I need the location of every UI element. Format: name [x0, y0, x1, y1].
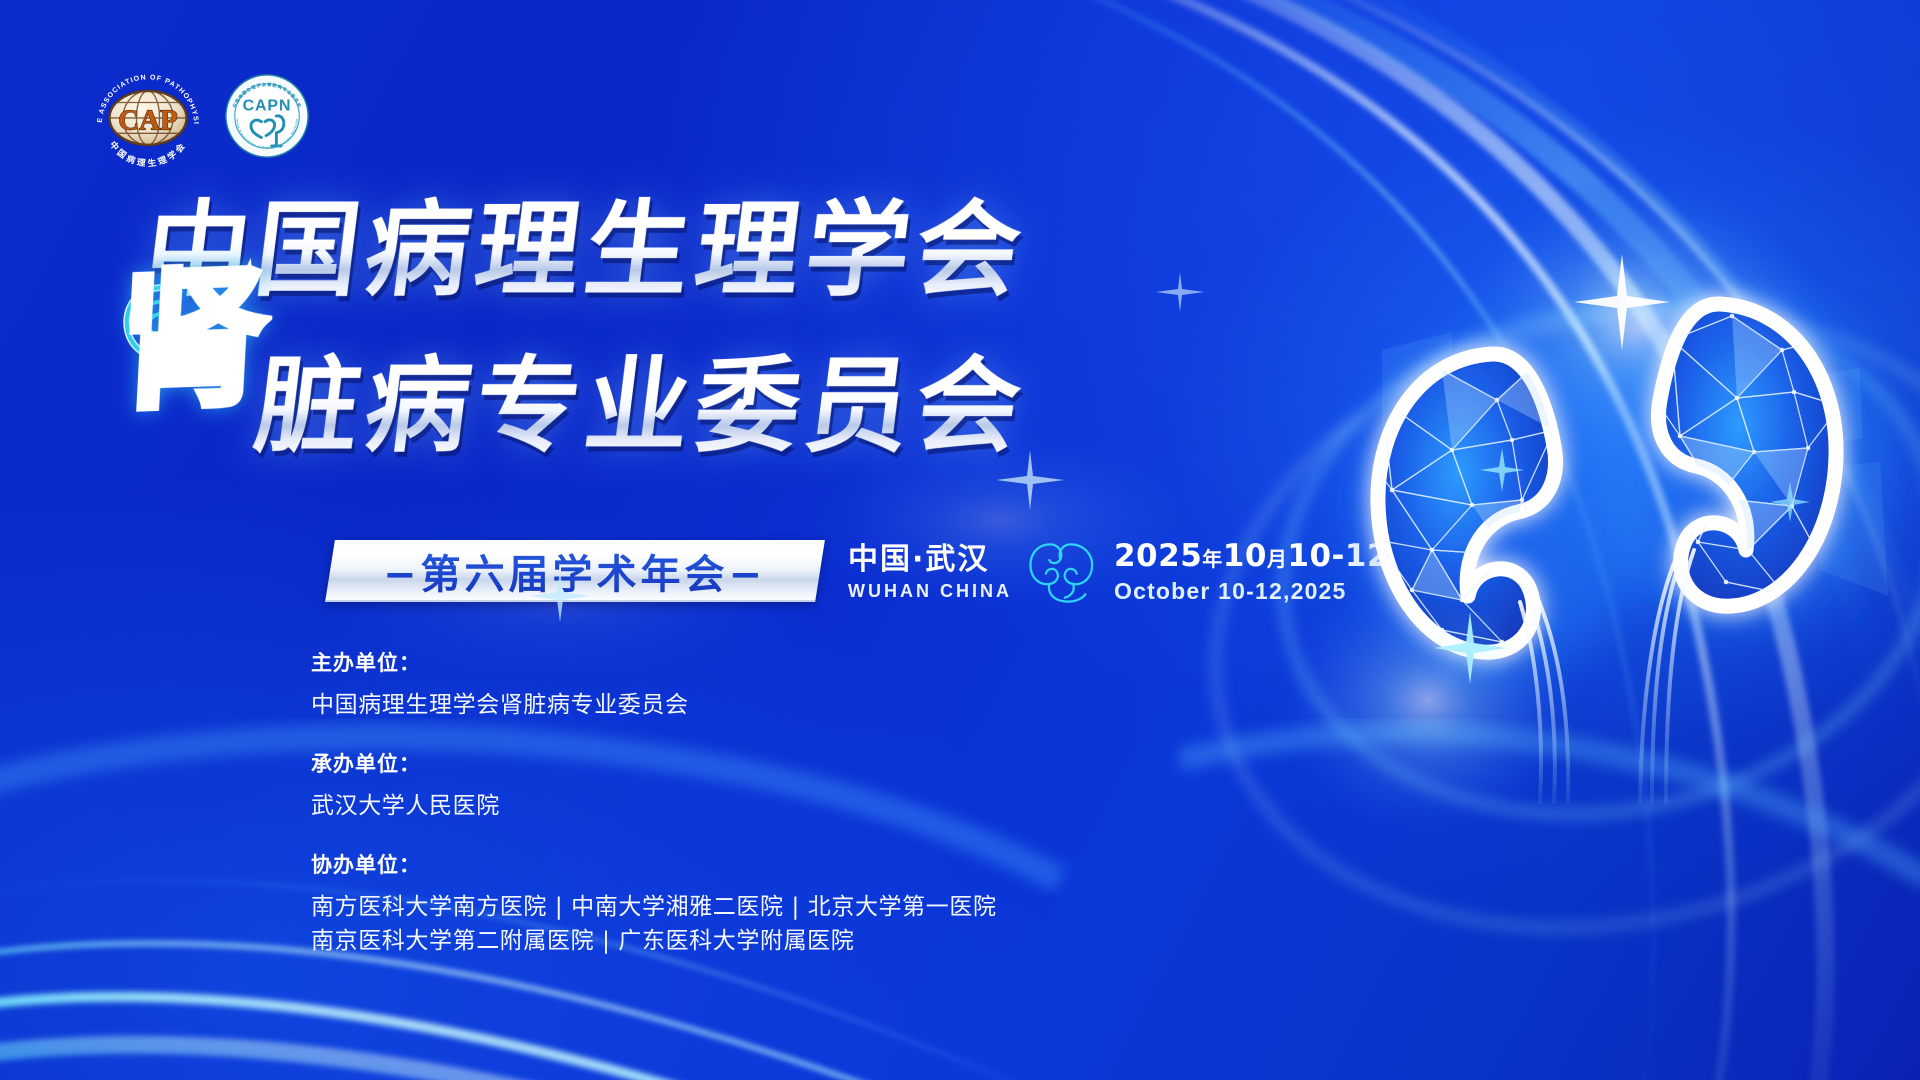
- title-line-1: 中国病理生理学会: [139, 196, 1162, 304]
- organizer-line: 南方医科大学南方医院 | 中南大学湘雅二医院 | 北京大学第一医院: [311, 890, 997, 924]
- organizer-label: 主办单位：: [311, 647, 997, 677]
- organizer-line: 中国病理生理学会肾脏病专业委员会: [311, 688, 997, 722]
- title-line-2-row: 肾 脏病专业委员会: [146, 332, 1156, 460]
- svg-text:CAP: CAP: [118, 105, 177, 137]
- conference-banner: CAP CHINESE ASSOCIATION OF PATHOPHYSIOLO…: [0, 0, 1920, 1080]
- title-line-2: 脏病专业委员会: [249, 352, 1032, 460]
- organizer-line: 南京医科大学第二附属医院 | 广东医科大学附属医院: [311, 924, 997, 958]
- city-block: 中国·武汉 WUHAN CHINA: [848, 545, 1012, 600]
- organizer-list: 主办单位： 中国病理生理学会肾脏病专业委员会 承办单位： 武汉大学人民医院 协办…: [311, 647, 997, 984]
- title-line-1-row: 中国病理生理学会: [146, 196, 1156, 316]
- kidney-pair-lowpoly-icon: [1322, 250, 1920, 810]
- logo-group: CAP CHINESE ASSOCIATION OF PATHOPHYSIOLO…: [90, 62, 310, 170]
- organizer-label: 承办单位：: [311, 748, 997, 778]
- headline-block: 中国病理生理学会 肾 脏病专业委员会: [146, 196, 1156, 460]
- subtitle-text: −第六届学术年会−: [383, 542, 766, 600]
- organizer-label: 协办单位：: [311, 849, 997, 879]
- city-name-cn: 中国·武汉: [848, 545, 1012, 575]
- city-name-en: WUHAN CHINA: [848, 582, 1012, 600]
- subtitle-banner: −第六届学术年会−: [325, 540, 825, 602]
- kidney-outline-icon: [1020, 536, 1106, 608]
- organizer-group: 主办单位： 中国病理生理学会肾脏病专业委员会: [311, 647, 997, 722]
- kidney-character-accent: 肾: [118, 270, 250, 460]
- capn-logo-icon: CAPN 中国病理生理学会肾脏病专业委员会 Chinese Associatio…: [224, 73, 310, 159]
- cap-logo-icon: CAP CHINESE ASSOCIATION OF PATHOPHYSIOLO…: [90, 62, 206, 170]
- kidney-artwork: [1322, 250, 1920, 810]
- cap-logo: CAP CHINESE ASSOCIATION OF PATHOPHYSIOLO…: [90, 62, 206, 170]
- organizer-line: 武汉大学人民医院: [311, 789, 997, 823]
- organizer-group: 承办单位： 武汉大学人民医院: [311, 748, 997, 823]
- capn-logo: CAPN 中国病理生理学会肾脏病专业委员会 Chinese Associatio…: [224, 73, 310, 159]
- svg-text:CAPN: CAPN: [243, 97, 292, 114]
- organizer-group: 协办单位： 南方医科大学南方医院 | 中南大学湘雅二医院 | 北京大学第一医院 …: [311, 849, 997, 958]
- shen-glyph: 肾: [114, 263, 272, 418]
